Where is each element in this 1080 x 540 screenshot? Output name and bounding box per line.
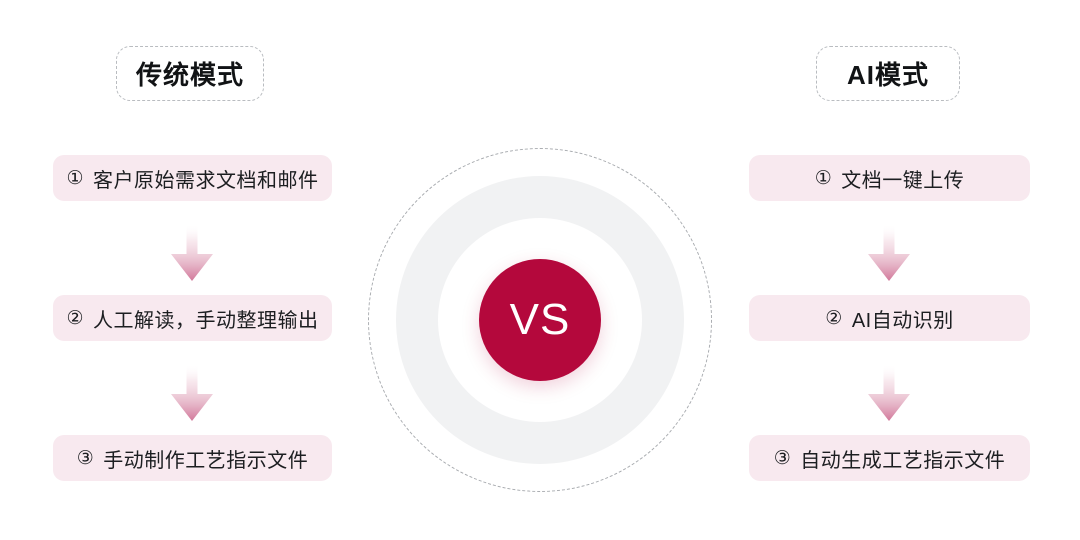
comparison-diagram: 传统模式 AI模式 ① 客户原始需求文档和邮件 ② (0, 0, 1080, 540)
vs-label: VS (510, 298, 571, 342)
versus-graphic: VS (368, 148, 712, 492)
left-step-1: ① 客户原始需求文档和邮件 (53, 155, 332, 201)
right-step-1: ① 文档一键上传 (749, 155, 1030, 201)
right-step-3-label: 自动生成工艺指示文件 (800, 444, 1005, 473)
left-step-3-label: 手动制作工艺指示文件 (103, 444, 308, 473)
vs-circle: VS (479, 259, 601, 381)
traditional-mode-header: 传统模式 (116, 46, 264, 101)
right-step-3: ③ 自动生成工艺指示文件 (749, 435, 1030, 481)
left-step-3: ③ 手动制作工艺指示文件 (53, 435, 332, 481)
left-down-arrow-2-icon (169, 364, 215, 422)
right-step-2-label: AI自动识别 (852, 304, 954, 333)
right-down-arrow-2-icon (866, 364, 912, 422)
left-step-2-label: 人工解读，手动整理输出 (93, 304, 319, 333)
left-step-2-number: ② (66, 307, 84, 330)
left-step-3-number: ③ (77, 447, 95, 470)
left-step-1-number: ① (66, 167, 84, 190)
right-step-1-number: ① (815, 167, 833, 190)
right-step-2: ② AI自动识别 (749, 295, 1030, 341)
left-step-2: ② 人工解读，手动整理输出 (53, 295, 332, 341)
right-step-1-label: 文档一键上传 (841, 164, 964, 193)
left-down-arrow-1-icon (169, 224, 215, 282)
right-step-3-number: ③ (774, 447, 792, 470)
right-step-2-number: ② (825, 307, 843, 330)
right-down-arrow-1-icon (866, 224, 912, 282)
left-step-1-label: 客户原始需求文档和邮件 (93, 164, 319, 193)
ai-mode-header: AI模式 (816, 46, 960, 101)
